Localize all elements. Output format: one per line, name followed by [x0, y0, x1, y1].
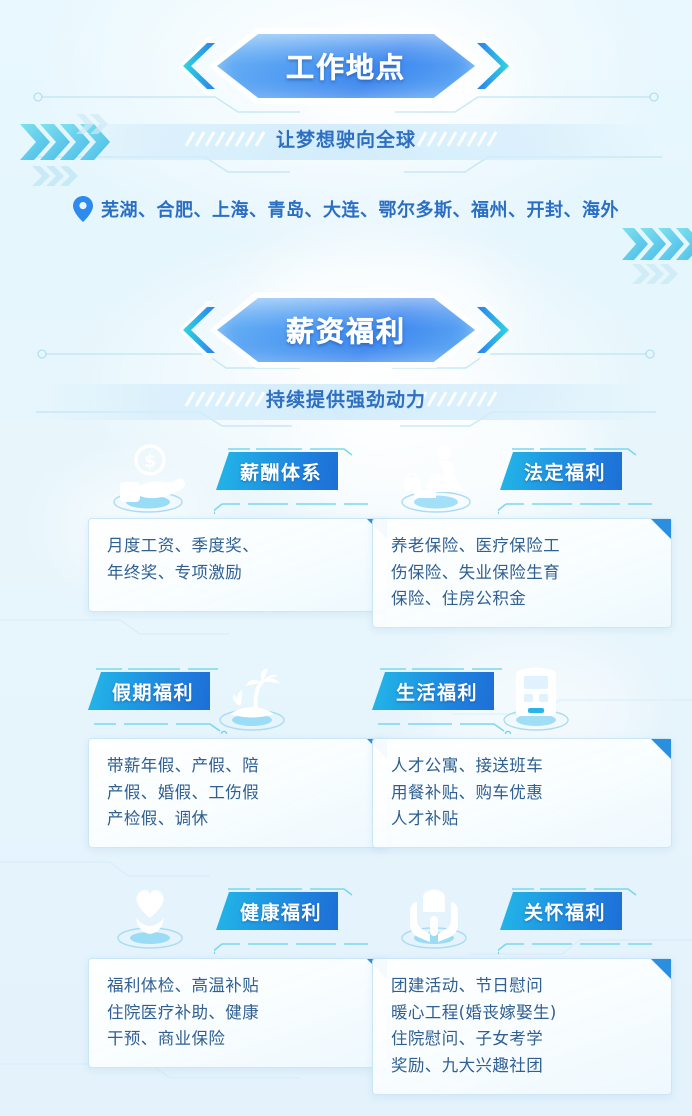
card-tag: 假期福利	[88, 672, 210, 710]
card-body: 月度工资、季度奖、 年终奖、专项激励	[88, 518, 388, 612]
banner-wing-right-icon	[473, 35, 529, 97]
hand-holding-coin-icon: $	[102, 442, 206, 516]
card-text: 福利体检、高温补贴 住院医疗补助、健康 干预、商业保险	[107, 973, 371, 1053]
benefit-card-statutory[interactable]: 法定福利 养老保险、医疗保险工 伤保险、失业保险生育 保险、住房公积金	[372, 440, 672, 628]
benefits-row: $ 薪酬体系 月度工资、季度奖、 年终	[0, 440, 692, 660]
benefits-grid: $ 薪酬体系 月度工资、季度奖、 年终	[0, 440, 692, 1100]
card-text: 带薪年假、产假、陪 产假、婚假、工伤假 产检假、调休	[107, 753, 371, 833]
shuttle-bus-icon	[484, 662, 588, 736]
poster-page: 工作地点 让梦想驶向	[0, 0, 692, 1116]
work-location-title: 工作地点	[286, 46, 406, 86]
heart-health-icon	[102, 882, 206, 956]
benefit-card-living[interactable]: 生活福利	[372, 660, 672, 848]
card-head: 健康福利	[88, 880, 388, 958]
benefits-title: 薪资福利	[286, 310, 406, 350]
card-body: 福利体检、高温补贴 住院医疗补助、健康 干预、商业保险	[88, 958, 388, 1068]
card-body: 团建活动、节日慰问 暖心工程(婚丧嫁娶生) 住院慰问、子女考学 奖励、九大兴趣社…	[372, 958, 672, 1095]
benefits-subtitle: 持续提供强劲动力	[0, 385, 692, 412]
card-head: 关怀福利	[372, 880, 672, 958]
benefits-banner: 薪资福利	[0, 292, 692, 368]
benefits-subtitle-strip: 持续提供强劲动力	[0, 376, 692, 428]
chevron-arrows-right-icon	[618, 218, 692, 288]
benefits-row: 健康福利 福利体检、高温补贴 住院医疗补助、健康 干预、商业保险	[0, 880, 692, 1100]
benefit-card-vacation[interactable]: 假期福利	[88, 660, 388, 848]
svg-text:$: $	[144, 451, 157, 472]
location-row: 芜湖、合肥、上海、青岛、大连、鄂尔多斯、福州、开封、海外	[0, 196, 692, 222]
work-location-banner: 工作地点	[0, 28, 692, 104]
card-tag: 法定福利	[500, 452, 622, 490]
card-head: 法定福利	[372, 440, 672, 518]
map-pin-icon	[73, 196, 93, 222]
benefit-card-salary-system[interactable]: $ 薪酬体系 月度工资、季度奖、 年终	[88, 440, 388, 612]
work-location-subtitle-strip: 让梦想驶向全球	[0, 116, 692, 168]
card-tag: 生活福利	[372, 672, 494, 710]
card-tag: 关怀福利	[500, 892, 622, 930]
card-tag: 健康福利	[216, 892, 338, 930]
card-text: 人才公寓、接送班车 用餐补贴、购车优惠 人才补贴	[391, 753, 655, 833]
card-head: 生活福利	[372, 660, 672, 738]
card-head: $ 薪酬体系	[88, 440, 388, 518]
card-text: 团建活动、节日慰问 暖心工程(婚丧嫁娶生) 住院慰问、子女考学 奖励、九大兴趣社…	[391, 973, 655, 1080]
benefit-card-caring[interactable]: 关怀福利 团建活动、节日慰问 暖心工程(婚丧嫁娶生) 住院慰问、子女考学 奖励、…	[372, 880, 672, 1095]
island-palm-tree-icon	[200, 662, 304, 736]
benefits-row: 假期福利	[0, 660, 692, 880]
benefit-card-health[interactable]: 健康福利 福利体检、高温补贴 住院医疗补助、健康 干预、商业保险	[88, 880, 388, 1068]
card-body: 人才公寓、接送班车 用餐补贴、购车优惠 人才补贴	[372, 738, 672, 848]
card-tag: 薪酬体系	[216, 452, 338, 490]
card-body: 带薪年假、产假、陪 产假、婚假、工伤假 产检假、调休	[88, 738, 388, 848]
card-text: 月度工资、季度奖、 年终奖、专项激励	[107, 533, 371, 586]
caring-hands-icon	[386, 882, 490, 956]
card-text: 养老保险、医疗保险工 伤保险、失业保险生育 保险、住房公积金	[391, 533, 655, 613]
card-head: 假期福利	[88, 660, 388, 738]
person-climbing-stairs-icon	[386, 442, 490, 516]
location-list: 芜湖、合肥、上海、青岛、大连、鄂尔多斯、福州、开封、海外	[101, 196, 619, 222]
work-location-subtitle: 让梦想驶向全球	[0, 125, 692, 152]
card-body: 养老保险、医疗保险工 伤保险、失业保险生育 保险、住房公积金	[372, 518, 672, 628]
banner-wing-right-icon	[473, 299, 529, 361]
